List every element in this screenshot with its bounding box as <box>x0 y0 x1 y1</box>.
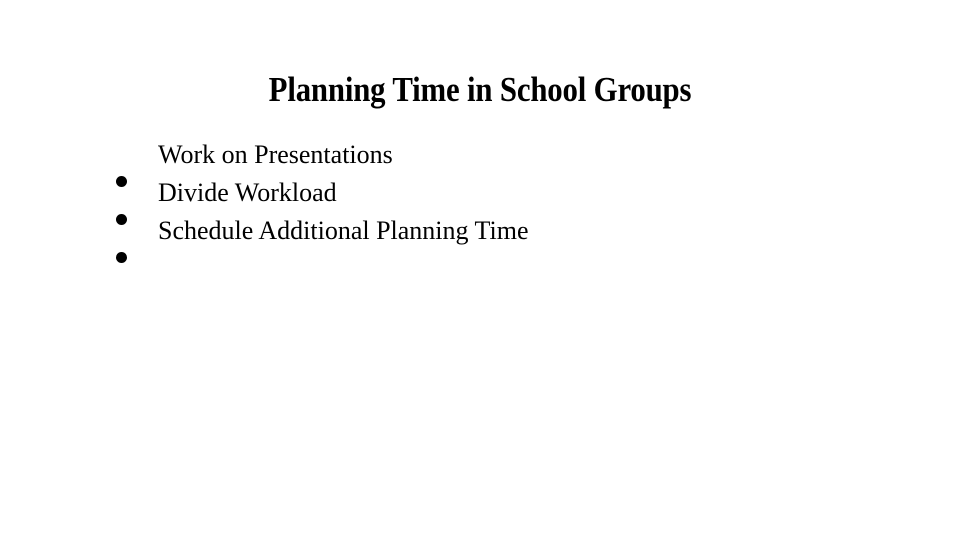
list-item: Divide Workload <box>116 174 876 212</box>
list-item-label: Schedule Additional Planning Time <box>158 212 529 250</box>
list-item-label: Work on Presentations <box>158 136 393 174</box>
list-item: Schedule Additional Planning Time <box>116 212 876 250</box>
list-item: Work on Presentations <box>116 136 876 174</box>
slide-title: Planning Time in School Groups <box>58 69 903 111</box>
bullet-list: Work on Presentations Divide Workload Sc… <box>116 136 876 250</box>
list-item-label: Divide Workload <box>158 174 337 212</box>
presentation-slide: Planning Time in School Groups Work on P… <box>0 0 960 540</box>
